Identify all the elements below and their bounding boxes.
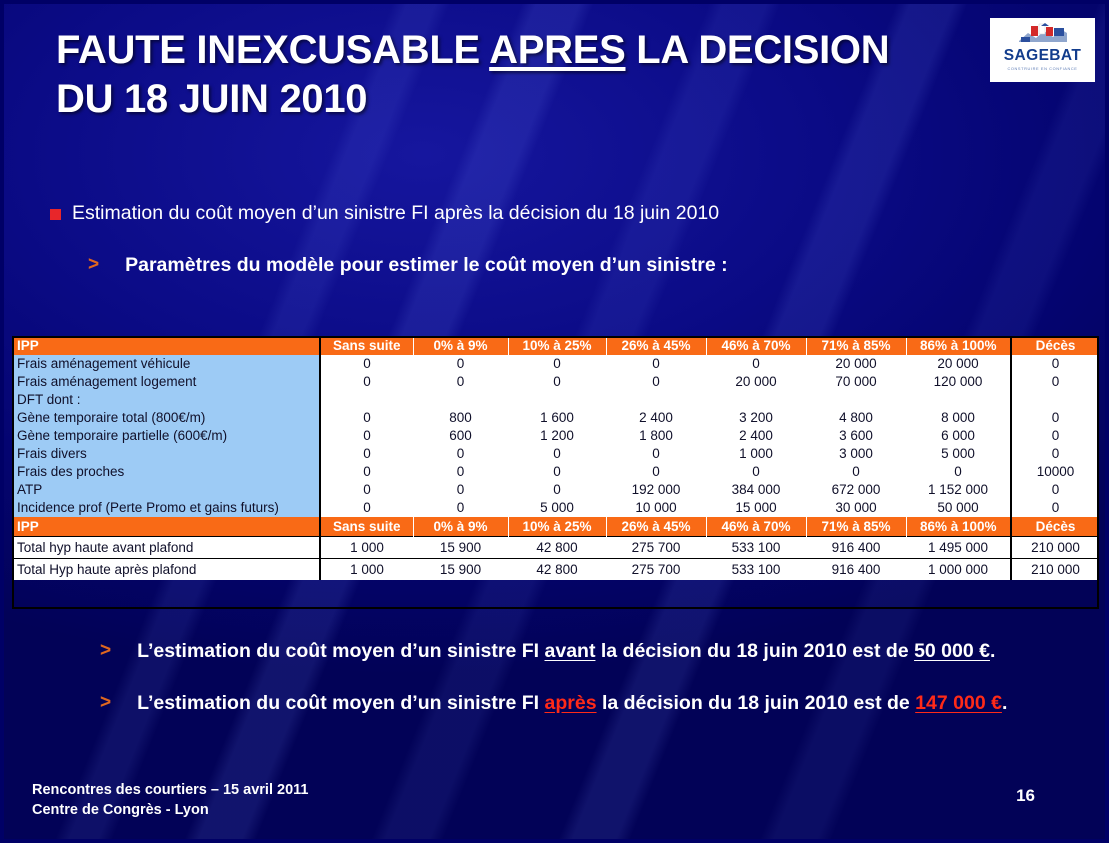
col-header2-86-100: 86% à 100% <box>906 517 1011 537</box>
cell: 0 <box>1011 445 1099 463</box>
conclusion-apres-value: 147 000 € <box>915 692 1002 714</box>
conclusion-apres-middle: la décision du 18 juin 2010 est de <box>597 692 916 714</box>
row-label: Frais aménagement véhicule <box>12 355 320 373</box>
chevron-right-icon: > <box>88 254 99 276</box>
cell: 10000 <box>1011 463 1099 481</box>
cell: 916 400 <box>806 559 906 581</box>
cell: 916 400 <box>806 537 906 559</box>
cell: 384 000 <box>706 481 806 499</box>
cell <box>413 391 508 409</box>
cell: 600 <box>413 427 508 445</box>
cell: 0 <box>413 373 508 391</box>
row-label: Frais aménagement logement <box>12 373 320 391</box>
cell: 0 <box>413 481 508 499</box>
cell <box>320 391 413 409</box>
cell <box>906 391 1011 409</box>
cell: 0 <box>606 445 706 463</box>
conclusion-apres-text: L’estimation du coût moyen d’un sinistre… <box>137 692 1007 715</box>
row-label: ATP <box>12 481 320 499</box>
cell: 6 000 <box>906 427 1011 445</box>
conclusion-avant-middle: la décision du 18 juin 2010 est de <box>595 640 914 662</box>
cell: 20 000 <box>706 373 806 391</box>
cell: 210 000 <box>1011 537 1099 559</box>
col-header2-sans-suite: Sans suite <box>320 517 413 537</box>
cell: 275 700 <box>606 559 706 581</box>
cell: 2 400 <box>606 409 706 427</box>
cell <box>508 391 606 409</box>
cell: 533 100 <box>706 537 806 559</box>
cell: 0 <box>320 499 413 517</box>
cell: 0 <box>806 463 906 481</box>
cell: 42 800 <box>508 537 606 559</box>
cell: 0 <box>320 373 413 391</box>
cell: 192 000 <box>606 481 706 499</box>
footer-line-1: Rencontres des courtiers – 15 avril 2011 <box>32 780 308 800</box>
cell: 0 <box>320 427 413 445</box>
title-text-part2: LA DECISION <box>625 28 889 72</box>
table-total-row: Total Hyp haute après plafond 1 000 15 9… <box>12 559 1099 581</box>
col-header-sans-suite: Sans suite <box>320 336 413 355</box>
conclusion-avant-suffix: . <box>990 640 995 662</box>
cost-model-table: IPP Sans suite 0% à 9% 10% à 25% 26% à 4… <box>12 336 1099 580</box>
cell: 1 000 <box>706 445 806 463</box>
cell <box>706 391 806 409</box>
cell: 0 <box>413 499 508 517</box>
cell: 0 <box>320 481 413 499</box>
row-label: Incidence prof (Perte Promo et gains fut… <box>12 499 320 517</box>
cell: 0 <box>320 445 413 463</box>
table-total-row: Total hyp haute avant plafond 1 000 15 9… <box>12 537 1099 559</box>
col-header2-71-85: 71% à 85% <box>806 517 906 537</box>
chevron-right-icon: > <box>100 640 111 662</box>
cell: 1 495 000 <box>906 537 1011 559</box>
cell: 0 <box>413 355 508 373</box>
cell: 5 000 <box>906 445 1011 463</box>
square-bullet-icon <box>50 209 61 220</box>
sagebat-logo: SAGEBAT CONSTRUIRE EN CONFIANCE <box>990 18 1095 82</box>
cell: 275 700 <box>606 537 706 559</box>
table-row: DFT dont : <box>12 391 1099 409</box>
cell: 1 000 <box>320 559 413 581</box>
col-header2-46-70: 46% à 70% <box>706 517 806 537</box>
col-header-10-25: 10% à 25% <box>508 336 606 355</box>
row-label: Total hyp haute avant plafond <box>12 537 320 559</box>
cell <box>606 391 706 409</box>
conclusion-avant-value: 50 000 € <box>914 640 990 662</box>
bullet-level1-label: Estimation du coût moyen d’un sinistre F… <box>72 202 719 225</box>
conclusion-apres: > L’estimation du coût moyen d’un sinist… <box>100 692 1007 715</box>
col-header-86-100: 86% à 100% <box>906 336 1011 355</box>
cell: 50 000 <box>906 499 1011 517</box>
logo-mark-icon <box>1016 21 1070 47</box>
table-header-row: IPP Sans suite 0% à 9% 10% à 25% 26% à 4… <box>12 336 1099 355</box>
cell: 15 900 <box>413 537 508 559</box>
cell: 0 <box>508 355 606 373</box>
cell: 15 900 <box>413 559 508 581</box>
col-header-71-85: 71% à 85% <box>806 336 906 355</box>
cell: 0 <box>1011 481 1099 499</box>
col-header-46-70: 46% à 70% <box>706 336 806 355</box>
cell: 8 000 <box>906 409 1011 427</box>
cell: 1 800 <box>606 427 706 445</box>
cell: 1 000 <box>320 537 413 559</box>
col-header-ipp: IPP <box>12 336 320 355</box>
cell: 672 000 <box>806 481 906 499</box>
cell: 0 <box>1011 373 1099 391</box>
slide-footer: Rencontres des courtiers – 15 avril 2011… <box>32 780 308 820</box>
cell: 0 <box>508 463 606 481</box>
cell: 42 800 <box>508 559 606 581</box>
cell <box>806 391 906 409</box>
cell: 15 000 <box>706 499 806 517</box>
row-label: Frais des proches <box>12 463 320 481</box>
conclusion-avant-emphasis: avant <box>545 640 596 662</box>
table-header-row-secondary: IPP Sans suite 0% à 9% 10% à 25% 26% à 4… <box>12 517 1099 537</box>
table-row: Gène temporaire partielle (600€/m) 0 600… <box>12 427 1099 445</box>
cell: 70 000 <box>806 373 906 391</box>
conclusion-avant-text: L’estimation du coût moyen d’un sinistre… <box>137 640 995 663</box>
conclusion-avant-prefix: L’estimation du coût moyen d’un sinistre… <box>137 640 544 662</box>
table-row: Frais divers 0 0 0 0 1 000 3 000 5 000 0 <box>12 445 1099 463</box>
conclusion-apres-emphasis: après <box>545 692 597 714</box>
conclusion-avant: > L’estimation du coût moyen d’un sinist… <box>100 640 995 663</box>
row-label: Frais divers <box>12 445 320 463</box>
cell: 30 000 <box>806 499 906 517</box>
cell: 0 <box>413 463 508 481</box>
bullet-level1-estimation: Estimation du coût moyen d’un sinistre F… <box>50 202 719 225</box>
chevron-right-icon: > <box>100 692 111 714</box>
page-number: 16 <box>1016 786 1035 806</box>
cell: 1 600 <box>508 409 606 427</box>
cell: 0 <box>706 355 806 373</box>
cell: 0 <box>1011 427 1099 445</box>
col-header-deces: Décès <box>1011 336 1099 355</box>
slide-canvas: FAUTE INEXCUSABLE APRES LA DECISION DU 1… <box>0 0 1109 843</box>
row-label: Gène temporaire partielle (600€/m) <box>12 427 320 445</box>
logo-wordmark: SAGEBAT <box>1004 48 1081 64</box>
cell: 0 <box>508 445 606 463</box>
conclusion-apres-suffix: . <box>1002 692 1007 714</box>
cell: 2 400 <box>706 427 806 445</box>
title-text-part1: FAUTE INEXCUSABLE <box>56 28 489 72</box>
title-band: FAUTE INEXCUSABLE APRES LA DECISION DU 1… <box>4 4 1105 154</box>
cell: 0 <box>706 463 806 481</box>
row-label: Total Hyp haute après plafond <box>12 559 320 581</box>
conclusion-apres-prefix: L’estimation du coût moyen d’un sinistre… <box>137 692 544 714</box>
col-header2-0-9: 0% à 9% <box>413 517 508 537</box>
cell: 1 200 <box>508 427 606 445</box>
row-label: Gène temporaire total (800€/m) <box>12 409 320 427</box>
cell: 4 800 <box>806 409 906 427</box>
col-header2-10-25: 10% à 25% <box>508 517 606 537</box>
cell: 20 000 <box>806 355 906 373</box>
table-row: Frais aménagement véhicule 0 0 0 0 0 20 … <box>12 355 1099 373</box>
logo-tagline: CONSTRUIRE EN CONFIANCE <box>1007 66 1077 71</box>
cell: 0 <box>906 463 1011 481</box>
cell: 0 <box>1011 409 1099 427</box>
bullet-level2-parametres: > Paramètres du modèle pour estimer le c… <box>88 254 728 277</box>
table-row: Gène temporaire total (800€/m) 0 800 1 6… <box>12 409 1099 427</box>
cell: 0 <box>320 409 413 427</box>
cell: 1 000 000 <box>906 559 1011 581</box>
col-header-26-45: 26% à 45% <box>606 336 706 355</box>
cell: 5 000 <box>508 499 606 517</box>
cell: 10 000 <box>606 499 706 517</box>
cell: 120 000 <box>906 373 1011 391</box>
cell: 0 <box>606 355 706 373</box>
cell: 3 600 <box>806 427 906 445</box>
table-row: Frais des proches 0 0 0 0 0 0 0 10000 <box>12 463 1099 481</box>
cell: 0 <box>1011 499 1099 517</box>
cell: 0 <box>413 445 508 463</box>
table-row: Frais aménagement logement 0 0 0 0 20 00… <box>12 373 1099 391</box>
cell: 800 <box>413 409 508 427</box>
bullet-level2-label: Paramètres du modèle pour estimer le coû… <box>125 254 728 277</box>
table-row: ATP 0 0 0 192 000 384 000 672 000 1 152 … <box>12 481 1099 499</box>
title-line2: DU 18 JUIN 2010 <box>56 77 367 121</box>
col-header-0-9: 0% à 9% <box>413 336 508 355</box>
cell: 533 100 <box>706 559 806 581</box>
cell: 0 <box>508 481 606 499</box>
cell: 0 <box>1011 355 1099 373</box>
page-title: FAUTE INEXCUSABLE APRES LA DECISION DU 1… <box>56 26 966 124</box>
cell: 3 200 <box>706 409 806 427</box>
cell: 1 152 000 <box>906 481 1011 499</box>
cell <box>1011 391 1099 409</box>
cell: 0 <box>508 373 606 391</box>
cell: 0 <box>606 373 706 391</box>
col-header2-26-45: 26% à 45% <box>606 517 706 537</box>
col-header2-deces: Décès <box>1011 517 1099 537</box>
cell: 0 <box>320 463 413 481</box>
cell: 20 000 <box>906 355 1011 373</box>
row-label: DFT dont : <box>12 391 320 409</box>
cell: 0 <box>320 355 413 373</box>
col-header2-ipp: IPP <box>12 517 320 537</box>
footer-line-2: Centre de Congrès - Lyon <box>32 800 308 820</box>
cell: 210 000 <box>1011 559 1099 581</box>
cell: 0 <box>606 463 706 481</box>
title-emphasis-apres: APRES <box>489 28 625 72</box>
cell: 3 000 <box>806 445 906 463</box>
table-row: Incidence prof (Perte Promo et gains fut… <box>12 499 1099 517</box>
